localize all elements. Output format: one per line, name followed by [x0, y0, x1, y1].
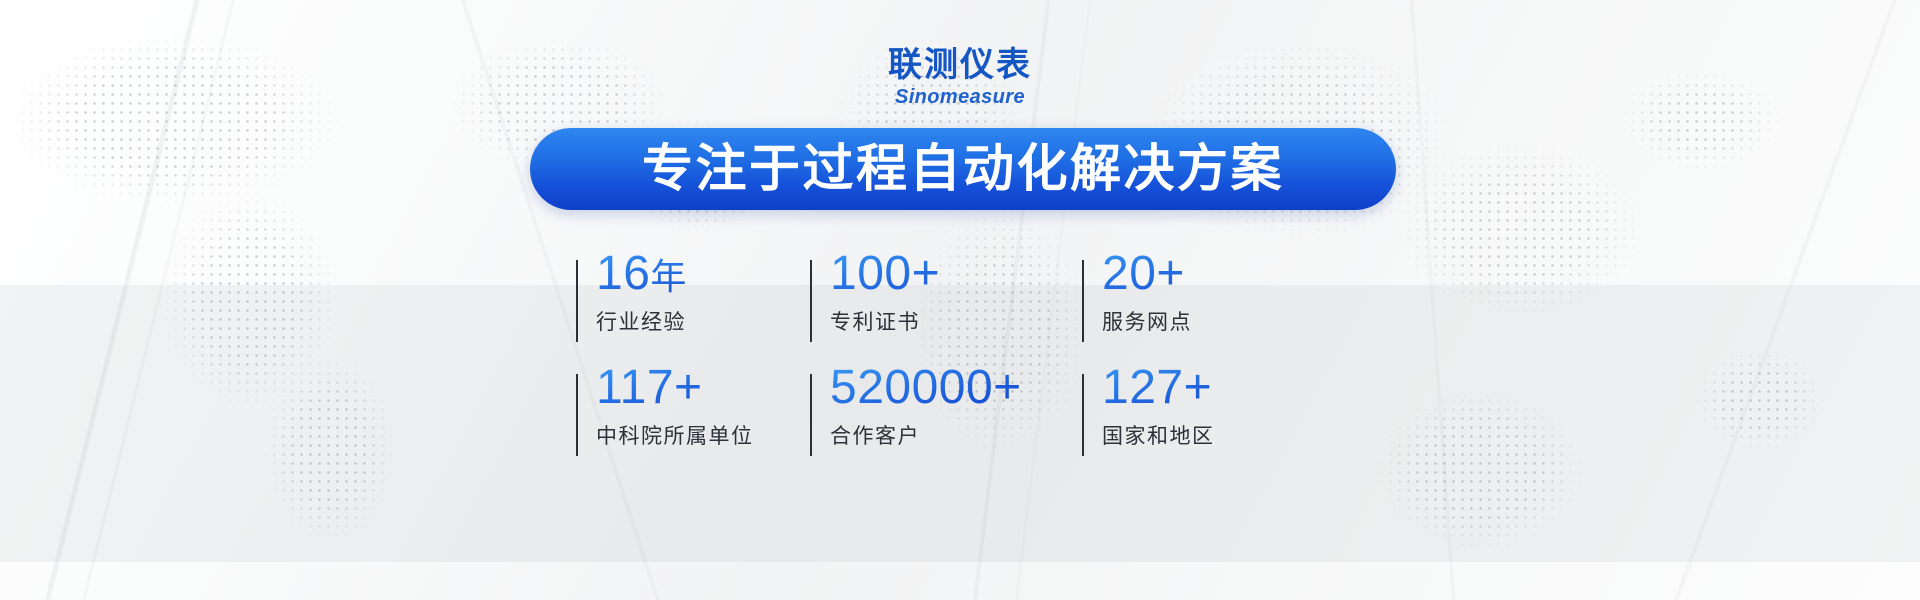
headline-text: 专注于过程自动化解决方案 — [642, 144, 1284, 195]
stat-number: 16 — [596, 247, 650, 300]
brand-logo: 联测仪表 Sinomeasure — [0, 48, 1920, 107]
stat-cas-affiliated-units: 117+ 中科院所属单位 — [576, 364, 810, 478]
stat-divider-rule — [1082, 374, 1084, 456]
stat-label: 中科院所属单位 — [596, 420, 810, 450]
stat-patent-certificates: 100+ 专利证书 — [810, 250, 1082, 364]
brand-name-cn: 联测仪表 — [0, 48, 1920, 82]
stat-label: 行业经验 — [596, 306, 810, 336]
brand-name-en: Sinomeasure — [0, 87, 1920, 107]
stat-divider-rule — [810, 374, 812, 456]
stat-number: 100+ — [830, 247, 940, 300]
stat-cooperative-customers: 520000+ 合作客户 — [810, 364, 1082, 478]
stats-grid: 16年 行业经验 100+ 专利证书 20+ 服务网点 117+ 中科院所属单位 — [576, 250, 1296, 478]
stat-unit: 年 — [650, 257, 687, 298]
stat-number: 520000+ — [830, 361, 1022, 414]
stats-row-1: 16年 行业经验 100+ 专利证书 20+ 服务网点 — [576, 250, 1296, 364]
stat-label: 国家和地区 — [1102, 420, 1296, 450]
stat-label: 专利证书 — [830, 306, 1082, 336]
stat-value: 127+ — [1102, 364, 1296, 413]
stat-service-outlets: 20+ 服务网点 — [1082, 250, 1296, 364]
stat-value: 100+ — [830, 250, 1082, 299]
stat-number: 117+ — [596, 361, 703, 414]
stat-value: 20+ — [1102, 250, 1296, 299]
stats-row-2: 117+ 中科院所属单位 520000+ 合作客户 127+ 国家和地区 — [576, 364, 1296, 478]
stat-years-experience: 16年 行业经验 — [576, 250, 810, 364]
stat-value: 16年 — [596, 250, 810, 299]
stat-label: 合作客户 — [830, 420, 1082, 450]
stat-label: 服务网点 — [1102, 306, 1296, 336]
stat-value: 117+ — [596, 364, 810, 413]
stat-value: 520000+ — [830, 364, 1082, 413]
promo-banner: 联测仪表 Sinomeasure 专注于过程自动化解决方案 16年 行业经验 1… — [0, 0, 1920, 600]
stat-divider-rule — [810, 260, 812, 342]
stat-countries-and-regions: 127+ 国家和地区 — [1082, 364, 1296, 478]
stat-number: 127+ — [1102, 361, 1212, 414]
stat-divider-rule — [576, 374, 578, 456]
stat-divider-rule — [1082, 260, 1084, 342]
headline-pill: 专注于过程自动化解决方案 — [530, 128, 1396, 210]
stat-number: 20+ — [1102, 247, 1185, 300]
stat-divider-rule — [576, 260, 578, 342]
